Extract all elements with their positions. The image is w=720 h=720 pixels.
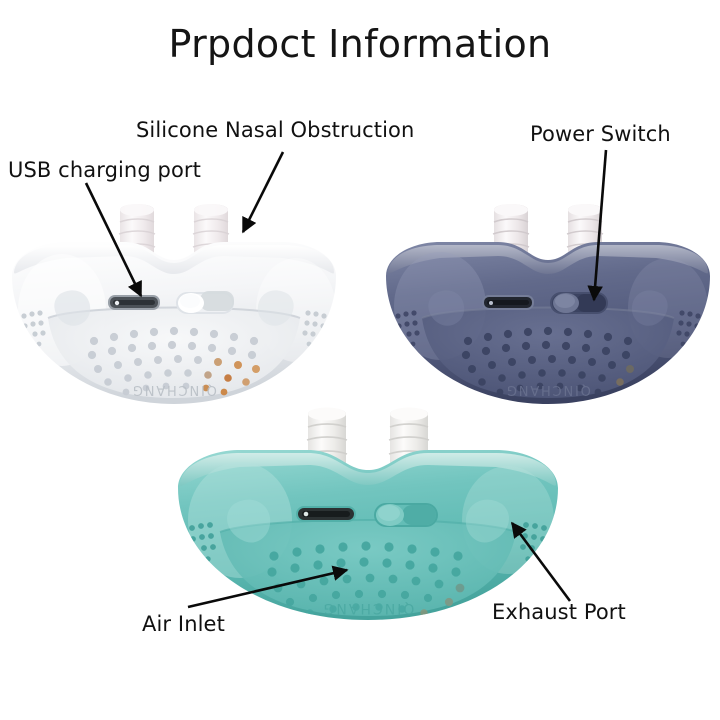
callout-label-silicone-nasal-obstruction: Silicone Nasal Obstruction xyxy=(136,118,414,142)
power-switch-toggle[interactable] xyxy=(550,292,608,314)
page-title: Prpdoct Information xyxy=(0,22,720,66)
usb-port xyxy=(108,295,160,310)
callout-label-power-switch: Power Switch xyxy=(530,122,671,146)
power-switch-toggle[interactable] xyxy=(176,291,234,314)
power-switch-toggle[interactable] xyxy=(374,503,438,527)
brand-text: QINCHANG xyxy=(322,600,415,616)
usb-port xyxy=(482,295,534,310)
brand-text: QINCHANG xyxy=(131,382,217,397)
callout-label-air-inlet: Air Inlet xyxy=(142,612,225,636)
device-navy: QINCHANG xyxy=(378,198,718,430)
brand-text: QINCHANG xyxy=(505,382,591,397)
usb-port xyxy=(296,506,356,522)
product-information-infographic: Prpdoct Information xyxy=(0,0,720,720)
callout-label-usb-charging-port: USB charging port xyxy=(8,158,201,182)
callout-label-exhaust-port: Exhaust Port xyxy=(492,600,626,624)
device-white: QINCHANG xyxy=(4,198,344,430)
